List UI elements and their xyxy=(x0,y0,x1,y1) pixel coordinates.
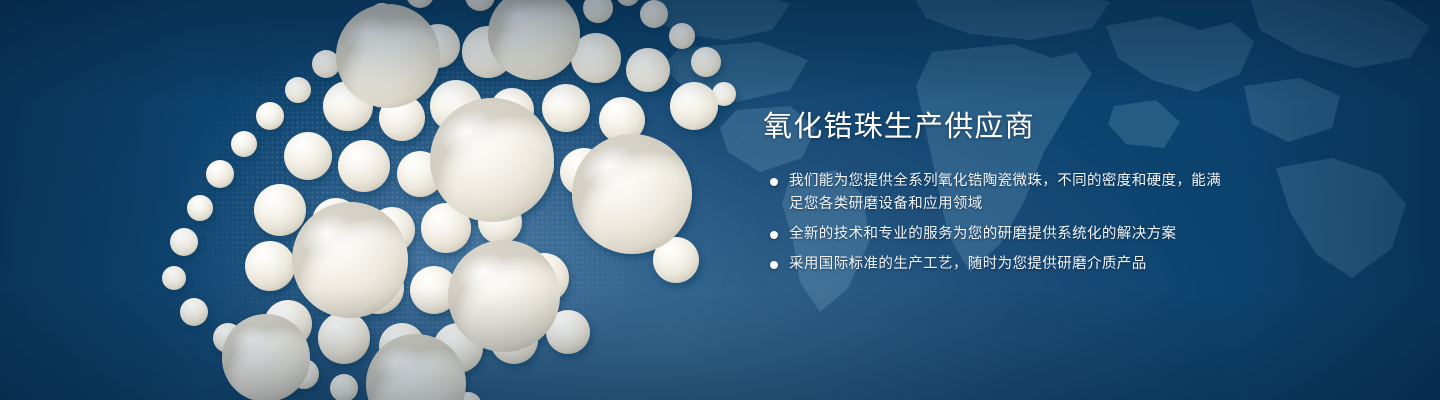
banner-copy: 氧化锆珠生产供应商 我们能为您提供全系列氧化锆陶瓷微珠，不同的密度和硬度，能满足… xyxy=(763,108,1233,276)
bullet-dot-icon xyxy=(770,231,778,239)
hero-banner: 氧化锆珠生产供应商 我们能为您提供全系列氧化锆陶瓷微珠，不同的密度和硬度，能满足… xyxy=(0,0,1440,400)
list-item-text: 采用国际标准的生产工艺，随时为您提供研磨介质产品 xyxy=(789,256,1147,272)
feature-list: 我们能为您提供全系列氧化锆陶瓷微珠，不同的密度和硬度，能满足您各类研磨设备和应用… xyxy=(763,170,1233,276)
page-title: 氧化锆珠生产供应商 xyxy=(763,108,1233,146)
list-item-text: 我们能为您提供全系列氧化锆陶瓷微珠，不同的密度和硬度，能满足您各类研磨设备和应用… xyxy=(789,173,1221,212)
bullet-dot-icon xyxy=(770,178,778,186)
list-item-text: 全新的技术和专业的服务为您的研磨提供系统化的解决方案 xyxy=(789,226,1176,242)
list-item: 我们能为您提供全系列氧化锆陶瓷微珠，不同的密度和硬度，能满足您各类研磨设备和应用… xyxy=(763,170,1233,216)
bullet-dot-icon xyxy=(770,261,778,269)
list-item: 采用国际标准的生产工艺，随时为您提供研磨介质产品 xyxy=(763,253,1233,276)
list-item: 全新的技术和专业的服务为您的研磨提供系统化的解决方案 xyxy=(763,223,1233,246)
